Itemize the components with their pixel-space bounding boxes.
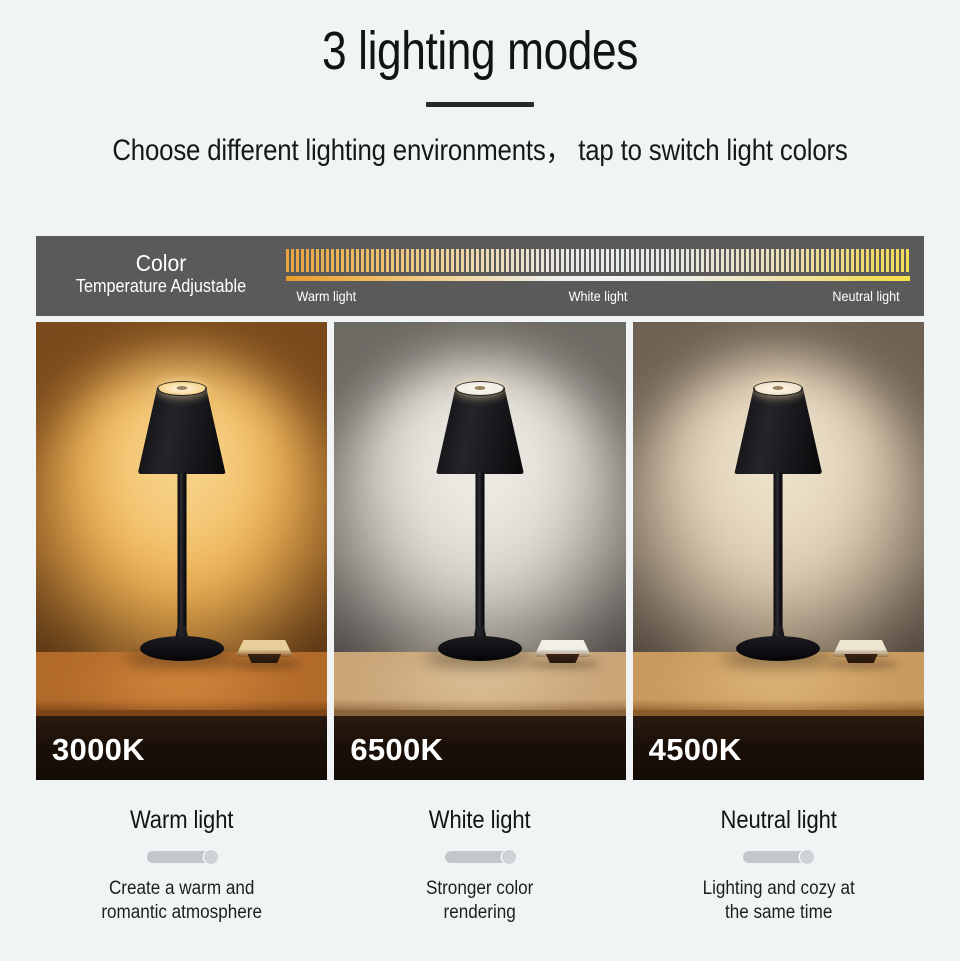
caption-title: White light (352, 806, 608, 835)
lamp-stem (475, 472, 484, 644)
header-section: 3 lighting modes Choose different lighti… (0, 0, 960, 169)
scale-gradient-line (286, 276, 910, 281)
scale-label-row: Warm light White light Neutral light (286, 288, 910, 304)
scale-label-white: White light (504, 288, 691, 304)
caption-desc-line-2: rendering (349, 901, 611, 925)
scale-ruler-wrap (286, 249, 910, 272)
banner-subtitle: Temperature Adjustable (49, 276, 274, 298)
banner-title: Color (46, 250, 276, 276)
lamp-touch-control-icon[interactable] (474, 386, 485, 390)
lamp-touch-control-icon[interactable] (773, 386, 784, 390)
lamp-base (736, 636, 820, 661)
lamp-touch-control-icon[interactable] (176, 386, 187, 390)
table-lamp (718, 374, 838, 686)
caption-desc-line-1: Stronger color (349, 877, 611, 901)
caption-title: Neutral light (650, 806, 906, 835)
lighting-panel-neutral[interactable]: 4500K (633, 322, 924, 780)
ceramic-dish (832, 640, 890, 666)
caption-title: Warm light (53, 806, 309, 835)
brightness-slider[interactable] (445, 851, 515, 863)
caption-desc-line-2: romantic atmosphere (51, 901, 313, 925)
lighting-panel-warm[interactable]: 3000K (36, 322, 327, 780)
lamp-shade (734, 388, 822, 474)
lamp-shade (138, 388, 226, 474)
brightness-slider[interactable] (147, 851, 217, 863)
caption-neutral: Neutral light Lighting and cozy at the s… (633, 806, 924, 926)
banner-label-group: Color Temperature Adjustable (36, 250, 286, 302)
kelvin-label: 4500K (649, 732, 742, 768)
lamp-base (438, 636, 522, 661)
lighting-mode-panels: 3000K 6500K (36, 322, 924, 780)
lighting-panel-white[interactable]: 6500K (334, 322, 625, 780)
caption-desc-line-2: the same time (647, 901, 909, 925)
caption-warm: Warm light Create a warm and romantic at… (36, 806, 327, 926)
table-lamp (122, 374, 242, 686)
ceramic-dish (235, 640, 293, 666)
kelvin-label: 3000K (52, 732, 145, 768)
caption-white: White light Stronger color rendering (334, 806, 625, 926)
caption-desc-line-1: Create a warm and (51, 877, 313, 901)
scale-label-warm: Warm light (296, 288, 483, 304)
mode-captions: Warm light Create a warm and romantic at… (36, 806, 924, 926)
caption-description: Lighting and cozy at the same time (647, 877, 909, 926)
lamp-stem (774, 472, 783, 644)
table-lamp (420, 374, 540, 686)
caption-description: Stronger color rendering (349, 877, 611, 926)
scale-label-neutral: Neutral light (712, 288, 899, 304)
slider-knob[interactable] (204, 850, 218, 864)
ceramic-dish (534, 640, 592, 666)
caption-desc-line-1: Lighting and cozy at (647, 877, 909, 901)
page-title: 3 lighting modes (86, 22, 873, 80)
lamp-shade (436, 388, 524, 474)
page-subtitle: Choose different lighting environments， … (67, 125, 893, 169)
kelvin-label: 6500K (350, 732, 443, 768)
caption-description: Create a warm and romantic atmosphere (51, 877, 313, 926)
scale-ruler-ticks (286, 249, 910, 272)
slider-knob[interactable] (502, 850, 516, 864)
color-temperature-scale[interactable]: Warm light White light Neutral light (286, 236, 924, 316)
color-temperature-banner: Color Temperature Adjustable Warm light … (36, 236, 924, 316)
slider-knob[interactable] (800, 850, 814, 864)
brightness-slider[interactable] (743, 851, 813, 863)
title-divider (426, 102, 534, 107)
lamp-base (140, 636, 224, 661)
lamp-stem (177, 472, 186, 644)
